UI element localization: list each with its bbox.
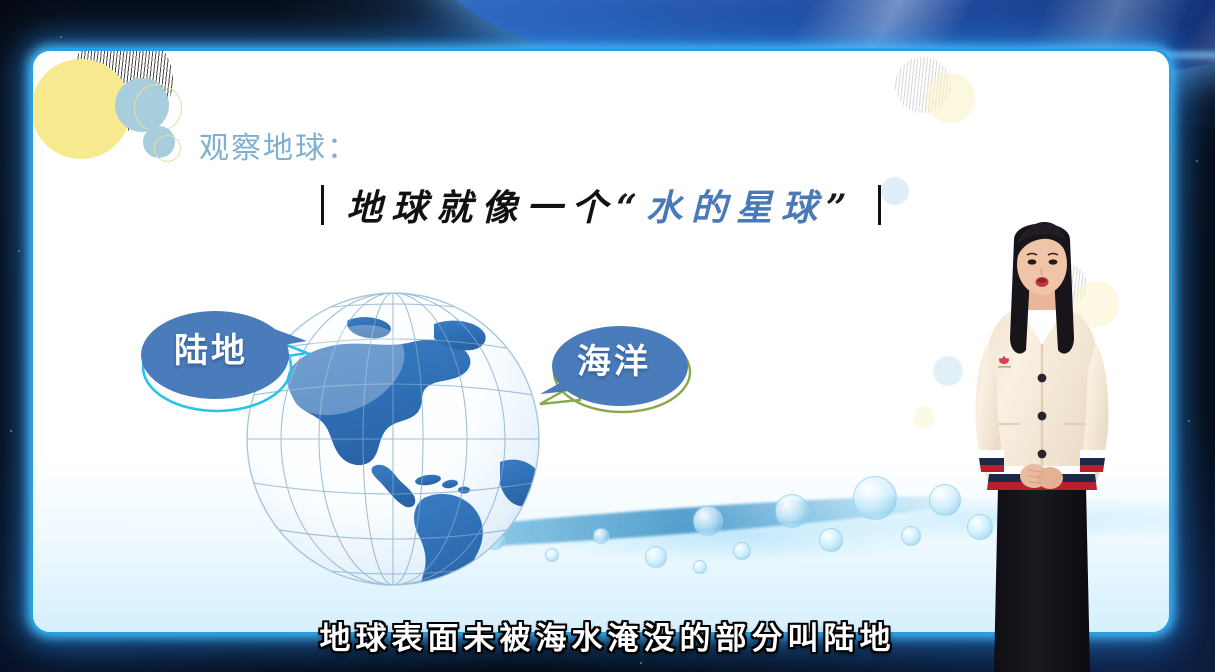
callout-land[interactable]: 陆地 [135,299,287,395]
callout-ocean[interactable]: 海洋 [546,316,682,400]
section-heading-label: 观察地球： [199,123,359,167]
title-right-bar [878,185,881,225]
star [60,36,62,38]
title-open-quote: “ [616,187,646,229]
bubble [593,528,609,544]
bubble [645,546,667,568]
star [640,662,642,664]
yellow-circle-decoration [31,59,131,159]
bubble [929,484,961,516]
title-highlight: 水的星球 [646,187,826,229]
section-heading: 观察地球： [143,123,359,167]
hatched-circle-decoration [71,48,173,131]
star [1188,420,1190,422]
title-close-quote: ” [826,187,856,229]
slide-title-text: 地球就像一个“水的星球” [346,179,855,231]
bubble [693,560,707,574]
circle-bullet-icon [143,126,181,164]
bubble [693,506,723,536]
star [1196,160,1198,162]
star [18,250,20,252]
callout-land-label: 陆地 [135,299,287,395]
pale-blue-circle-decoration [933,356,963,386]
hatched-circle-decoration [895,57,951,113]
bubble [853,476,897,520]
title-plain-prefix: 地球就像一个 [346,187,616,229]
star [10,430,12,432]
bubble [733,542,751,560]
bubble [775,494,809,528]
title-left-bar [321,185,324,225]
callout-ocean-label: 海洋 [546,316,682,400]
pale-yellow-circle-decoration [913,406,935,428]
bubble [901,526,921,546]
subtitle-caption: 地球表面未被海水淹没的部分叫陆地 [0,613,1215,658]
pale-yellow-circle-decoration [925,73,975,123]
presenter-video-overlay [962,218,1122,672]
bubble [819,528,843,552]
